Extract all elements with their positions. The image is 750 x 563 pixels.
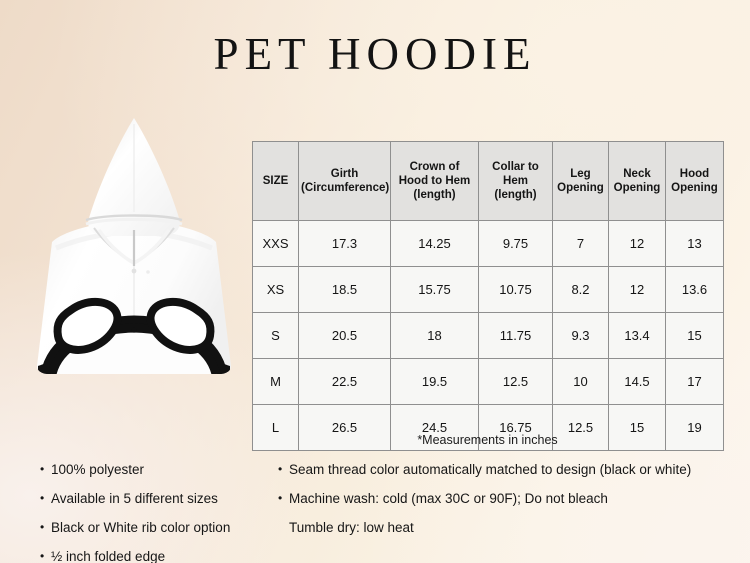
hoodie-illustration [16,108,252,410]
size-chart-table: SIZE Girth (Circumference) Crown of Hood… [252,141,724,451]
cell-girth: 17.3 [299,221,391,267]
bullet-icon: • [40,520,51,535]
cell-leg: 10 [553,359,609,405]
cell-collar: 9.75 [479,221,553,267]
cell-crown: 14.25 [391,221,479,267]
cell-neck: 12 [609,221,666,267]
cell-size: M [253,359,299,405]
table-row: XS 18.5 15.75 10.75 8.2 12 13.6 [253,267,724,313]
features-list-right: • Seam thread color automatically matche… [278,462,738,549]
header-line: Crown of [410,161,460,173]
list-item: • Black or White rib color option [40,520,280,537]
list-item-continuation: Tumble dry: low heat [289,520,738,537]
cell-leg: 7 [553,221,609,267]
hood [86,118,182,236]
cell-size: XS [253,267,299,313]
cell-hood: 15 [666,313,724,359]
bullet-icon: • [278,491,289,506]
list-item: • ½ inch folded edge [40,549,280,563]
header-line: Girth [331,168,358,180]
list-item-label: 100% polyester [51,462,280,479]
header-line: Hood [680,168,709,180]
cell-collar: 12.5 [479,359,553,405]
column-header-leg-opening: Leg Opening [553,142,609,221]
cell-girth: 18.5 [299,267,391,313]
cell-leg: 9.3 [553,313,609,359]
cell-girth: 22.5 [299,359,391,405]
header-line: Opening [557,182,604,194]
features-list-left: • 100% polyester • Available in 5 differ… [40,462,280,563]
list-item: • Available in 5 different sizes [40,491,280,508]
cell-crown: 18 [391,313,479,359]
header-line: Leg [570,168,590,180]
cell-hood: 17 [666,359,724,405]
column-header-neck-opening: Neck Opening [609,142,666,221]
list-item: • 100% polyester [40,462,280,479]
bullet-icon: • [40,462,51,477]
bullet-icon: • [40,549,51,563]
header-line: Hem [503,175,528,187]
cell-neck: 14.5 [609,359,666,405]
header-line: Neck [623,168,651,180]
list-item-label: Black or White rib color option [51,520,280,537]
table-row: XXS 17.3 14.25 9.75 7 12 13 [253,221,724,267]
cell-collar: 10.75 [479,267,553,313]
column-header-collar-to-hem: Collar to Hem (length) [479,142,553,221]
list-item-label: Available in 5 different sizes [51,491,280,508]
cell-hood: 13.6 [666,267,724,313]
list-item-label: Machine wash: cold (max 30C or 90F); Do … [289,491,738,508]
table-row: M 22.5 19.5 12.5 10 14.5 17 [253,359,724,405]
column-header-hood-opening: Hood Opening [666,142,724,221]
list-item-label: ½ inch folded edge [51,549,280,563]
cell-neck: 12 [609,267,666,313]
cell-collar: 11.75 [479,313,553,359]
cell-hood: 13 [666,221,724,267]
column-header-crown-of-hood-to-hem: Crown of Hood to Hem (length) [391,142,479,221]
header-line: SIZE [263,175,289,187]
list-item: • Machine wash: cold (max 30C or 90F); D… [278,491,738,508]
measurements-note: *Measurements in inches [252,433,723,447]
bullet-icon: • [278,462,289,477]
cell-size: XXS [253,221,299,267]
header-line: Collar to [492,161,539,173]
header-line: (Circumference) [301,182,389,194]
header-line: (length) [413,189,455,201]
header-line: (length) [494,189,536,201]
column-header-girth: Girth (Circumference) [299,142,391,221]
pet-hoodie-size-chart: PET HOODIE [0,0,750,563]
cell-crown: 15.75 [391,267,479,313]
list-item: • Seam thread color automatically matche… [278,462,738,479]
table-header-row: SIZE Girth (Circumference) Crown of Hood… [253,142,724,221]
pet-hoodie-photo [16,108,252,410]
bullet-icon: • [40,491,51,506]
page-title: PET HOODIE [0,28,750,80]
cell-crown: 19.5 [391,359,479,405]
cell-leg: 8.2 [553,267,609,313]
column-header-size: SIZE [253,142,299,221]
header-line: Hood to Hem [399,175,471,187]
cell-girth: 20.5 [299,313,391,359]
table-row: S 20.5 18 11.75 9.3 13.4 15 [253,313,724,359]
header-line: Opening [614,182,661,194]
header-line: Opening [671,182,718,194]
cell-neck: 13.4 [609,313,666,359]
cell-size: S [253,313,299,359]
list-item-label: Seam thread color automatically matched … [289,462,738,479]
